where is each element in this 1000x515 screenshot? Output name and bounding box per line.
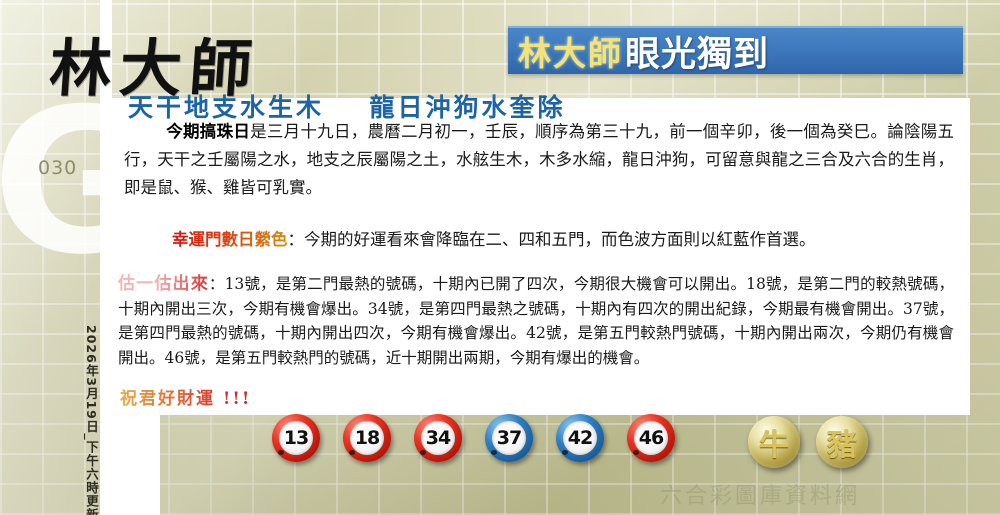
ball-number: 46 bbox=[634, 421, 668, 455]
ball-shadow-dot bbox=[633, 450, 639, 455]
zodiac-coin-row: 牛 豬 bbox=[748, 416, 868, 468]
ball-shadow-dot bbox=[562, 450, 568, 455]
title-banner: 林大師 眼光獨到 bbox=[508, 26, 963, 74]
poster-root: G 030 林大師 林大師 眼光獨到 天干地支水生木 龍日沖狗水奎除 今期搞珠日… bbox=[0, 0, 1000, 515]
logo-watermark-icon: G bbox=[0, 108, 112, 283]
ball-number: 42 bbox=[563, 421, 597, 455]
banner-slogan-text: 眼光獨到 bbox=[625, 26, 769, 77]
lucky-section: 幸運門數日縈色：今期的好運看來會降臨在二、四和五門，而色波方面則以紅藍作首選。 bbox=[124, 226, 954, 254]
ball-number: 13 bbox=[279, 421, 313, 455]
ball-shadow-dot bbox=[278, 450, 284, 455]
lucky-text: ：今期的好運看來會降臨在二、四和五門，而色波方面則以紅藍作首選。 bbox=[288, 230, 816, 249]
article-lead: 今期搞珠日 bbox=[166, 122, 250, 141]
article-body: 今期搞珠日是三月十九日，農曆二月初一，壬辰，順序為第三十九，前一個辛卯，後一個為… bbox=[124, 118, 954, 202]
lottery-ball: 37 bbox=[485, 414, 533, 462]
lottery-ball: 46 bbox=[627, 414, 675, 462]
picks-label: 估一估出來 bbox=[118, 274, 209, 294]
picks-text: ：13號，是第二門最熱的號碼，十期內已開了四次，今期很大機會可以開出。18號，是… bbox=[118, 275, 954, 367]
ball-number: 18 bbox=[350, 421, 384, 455]
ball-shadow-dot bbox=[349, 450, 355, 455]
article-paper-notch bbox=[110, 415, 160, 515]
lottery-ball: 42 bbox=[556, 414, 604, 462]
zodiac-coin-ox: 牛 bbox=[748, 416, 800, 468]
ball-number: 37 bbox=[492, 421, 526, 455]
lottery-ball: 34 bbox=[414, 414, 462, 462]
ball-shadow-dot bbox=[420, 450, 426, 455]
lottery-ball: 18 bbox=[343, 414, 391, 462]
banner-brand-text: 林大師 bbox=[518, 27, 623, 75]
lottery-ball-row: 13 18 34 37 42 46 bbox=[272, 414, 675, 462]
update-date-label: 2026年3月19日_下午六時更新 bbox=[82, 325, 101, 505]
picks-section: 估一估出來：13號，是第二門最熱的號碼，十期內已開了四次，今期很大機會可以開出。… bbox=[118, 272, 954, 370]
footer-watermark: 六合彩圖庫資料網 bbox=[660, 478, 860, 510]
issue-number-watermark: 030 bbox=[38, 157, 77, 179]
zodiac-coin-pig: 豬 bbox=[816, 416, 868, 468]
lottery-ball: 13 bbox=[272, 414, 320, 462]
blessing-text: 祝君好財運 !!! bbox=[120, 384, 251, 409]
ball-shadow-dot bbox=[491, 450, 497, 455]
ball-number: 34 bbox=[421, 421, 455, 455]
lucky-label: 幸運門數日縈色 bbox=[172, 230, 288, 249]
